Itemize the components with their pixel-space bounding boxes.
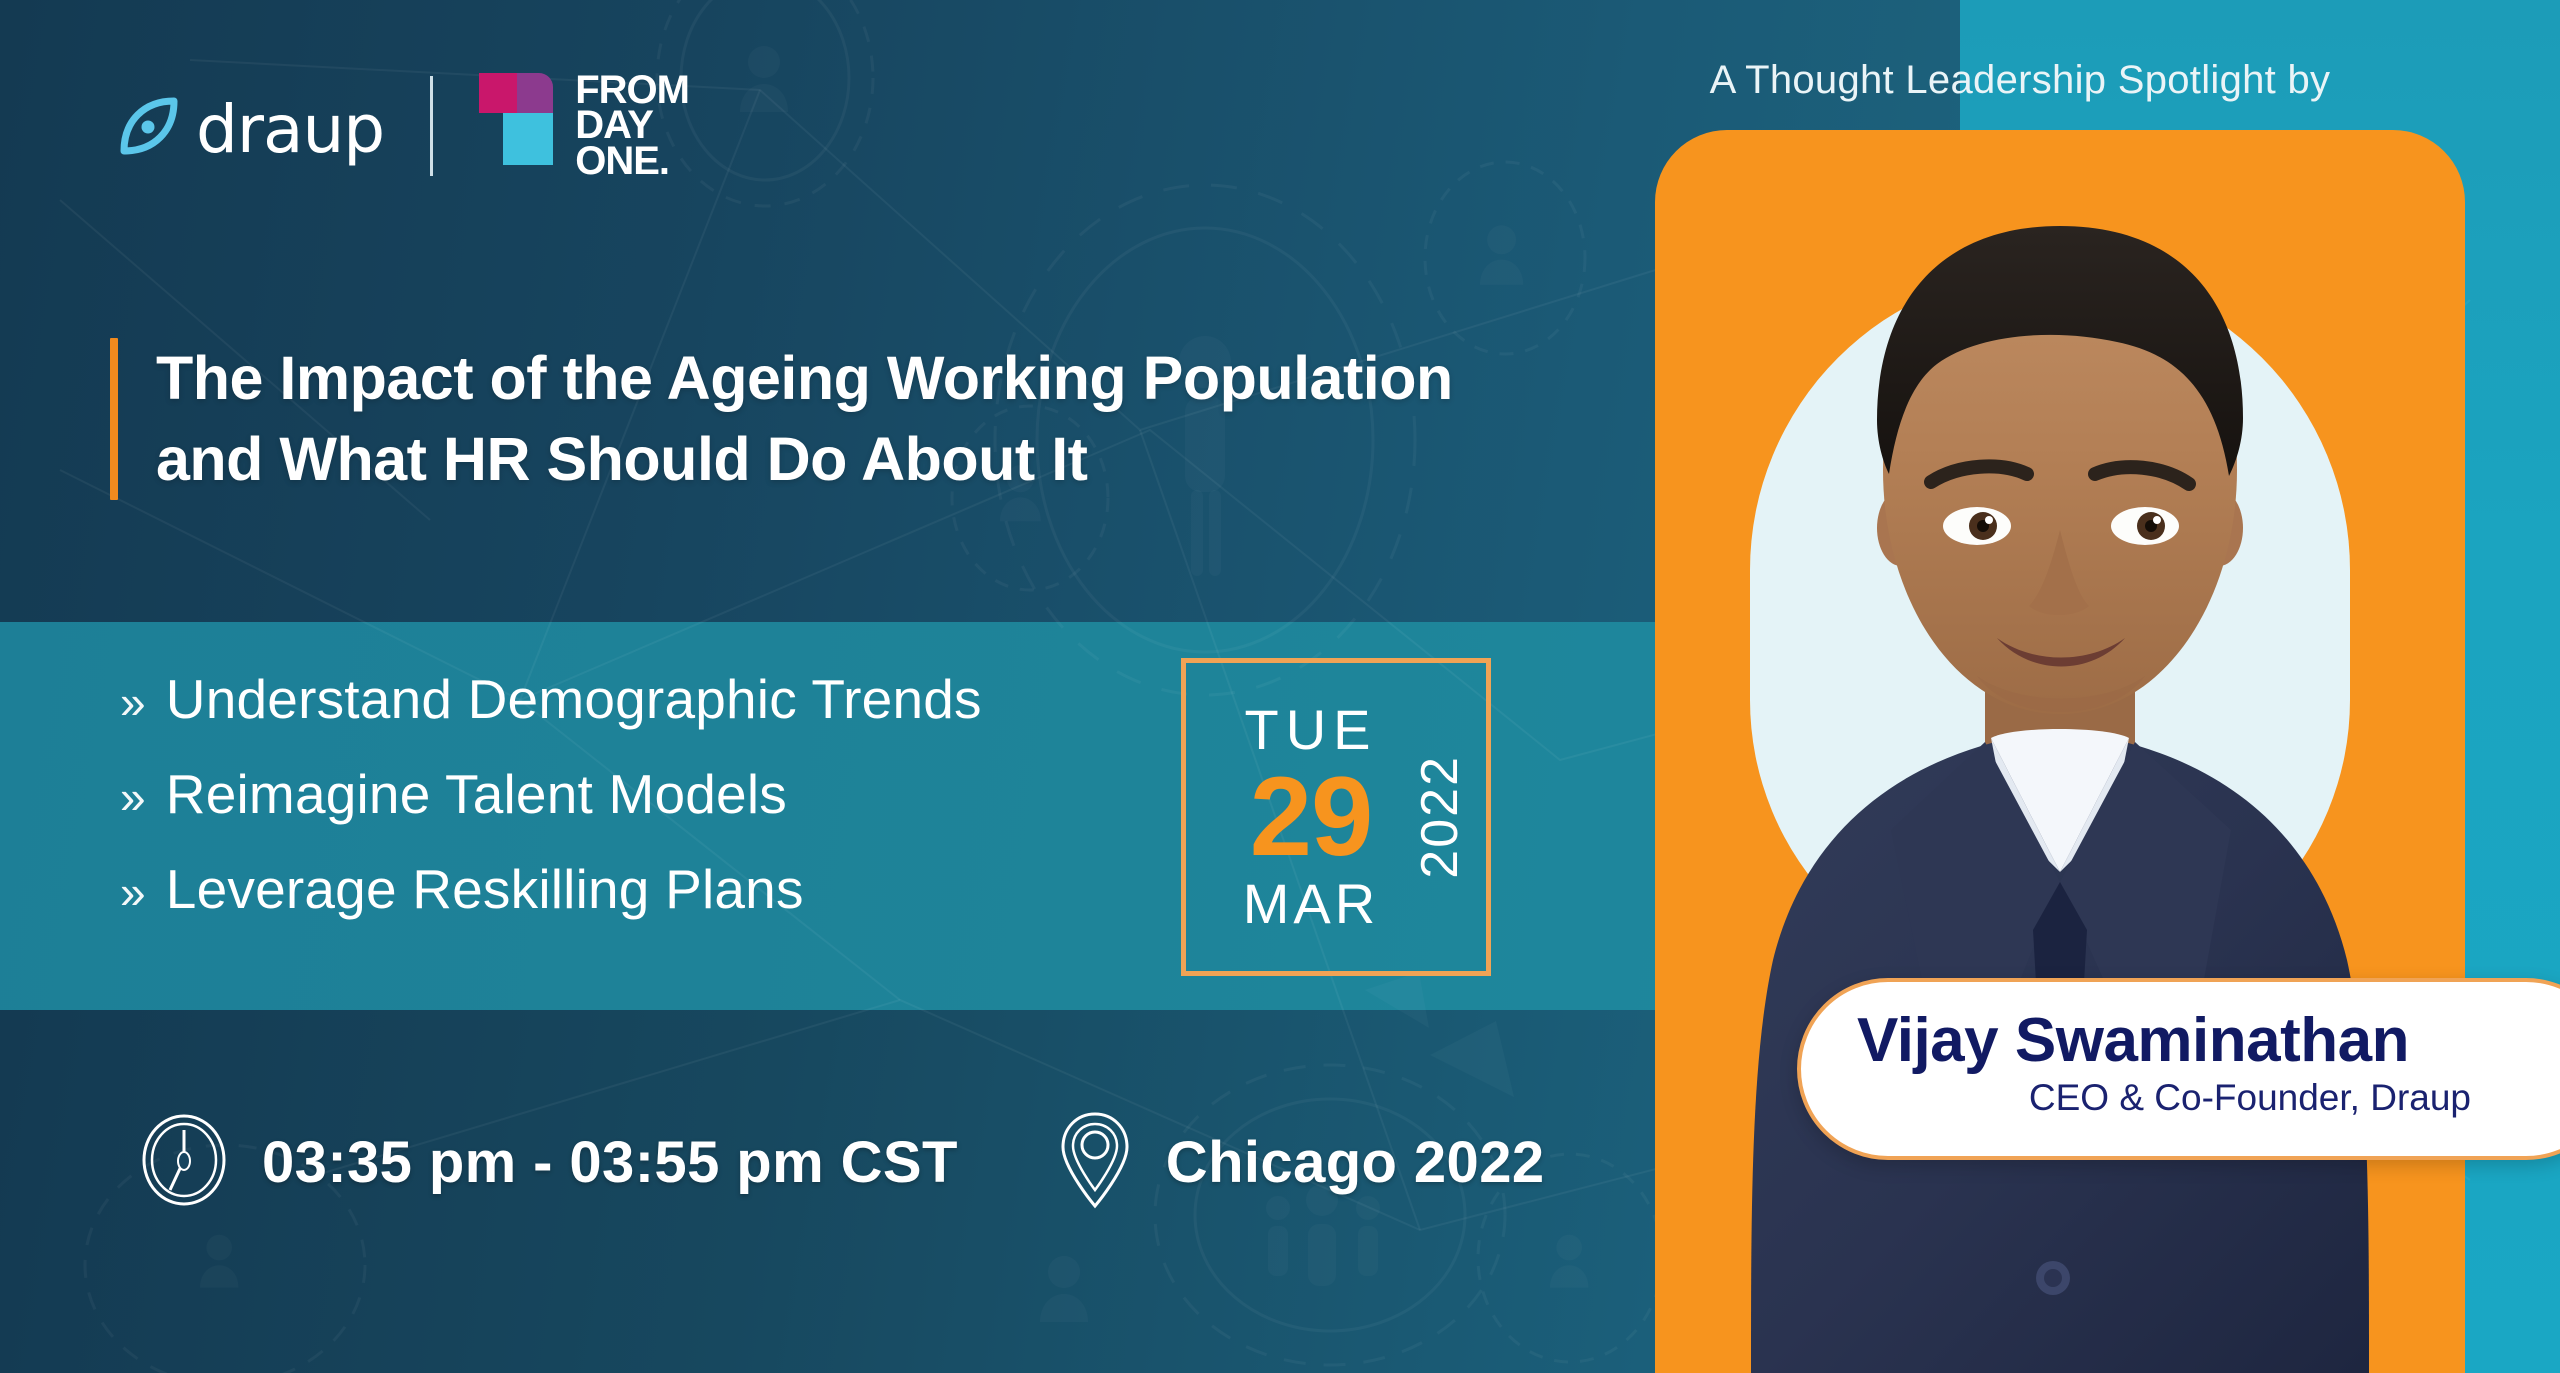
draup-leaf-icon: [118, 95, 180, 157]
date-main-stack: TUE 29 MAR: [1186, 663, 1410, 971]
page-title: The Impact of the Ageing Working Populat…: [156, 338, 1453, 500]
fdo-line-one: ONE.: [575, 144, 689, 179]
list-item: » Understand Demographic Trends: [120, 672, 1100, 727]
list-item-label: Leverage Reskilling Plans: [166, 862, 804, 917]
date-day-number: 29: [1250, 758, 1373, 877]
list-item-label: Reimagine Talent Models: [166, 767, 787, 822]
speaker-name-card: Vijay Swaminathan CEO & Co-Founder, Drau…: [1797, 978, 2560, 1160]
date-day-of-week: TUE: [1245, 702, 1378, 758]
event-location-item: Chicago 2022: [1058, 1110, 1545, 1215]
bullet-marker-icon: »: [120, 869, 146, 915]
brand-logo-row: draup FROM DAY ONE.: [118, 78, 689, 174]
bullet-marker-icon: »: [120, 774, 146, 820]
speaker-role: CEO & Co-Founder, Draup: [1857, 1077, 2560, 1119]
list-item-label: Understand Demographic Trends: [166, 672, 982, 727]
title-accent-bar: [110, 338, 118, 500]
title-block: The Impact of the Ageing Working Populat…: [110, 338, 1590, 500]
from-day-one-wordmark: FROM DAY ONE.: [575, 73, 689, 179]
from-day-one-mark-icon: [479, 73, 561, 165]
clock-icon: [140, 1114, 228, 1211]
bullet-marker-icon: »: [120, 679, 146, 725]
title-line-2: and What HR Should Do About It: [156, 419, 1453, 500]
title-line-1: The Impact of the Ageing Working Populat…: [156, 338, 1453, 419]
speaker-photo-frame: [1655, 130, 2465, 1373]
event-location-label: Chicago 2022: [1166, 1129, 1545, 1196]
date-month: MAR: [1243, 876, 1379, 932]
logo-divider: [430, 76, 433, 176]
event-time-item: 03:35 pm - 03:55 pm CST: [140, 1114, 958, 1211]
location-pin-icon: [1058, 1110, 1132, 1215]
list-item: » Leverage Reskilling Plans: [120, 862, 1100, 917]
event-info-row: 03:35 pm - 03:55 pm CST Chicago 2022: [140, 1110, 1545, 1215]
event-date-box: TUE 29 MAR 2022: [1181, 658, 1491, 976]
speaker-name: Vijay Swaminathan: [1857, 1008, 2560, 1073]
from-day-one-logo: FROM DAY ONE.: [479, 73, 689, 179]
takeaways-list: » Understand Demographic Trends » Reimag…: [120, 672, 1100, 957]
speaker-portrait: [1655, 130, 2465, 1373]
event-promo-poster: draup FROM DAY ONE. A Thought Leadership…: [0, 0, 2560, 1373]
date-year: 2022: [1410, 755, 1470, 879]
draup-wordmark: draup: [196, 97, 384, 163]
event-time-label: 03:35 pm - 03:55 pm CST: [262, 1129, 958, 1196]
spotlight-by-label: A Thought Leadership Spotlight by: [1630, 58, 2410, 103]
list-item: » Reimagine Talent Models: [120, 767, 1100, 822]
